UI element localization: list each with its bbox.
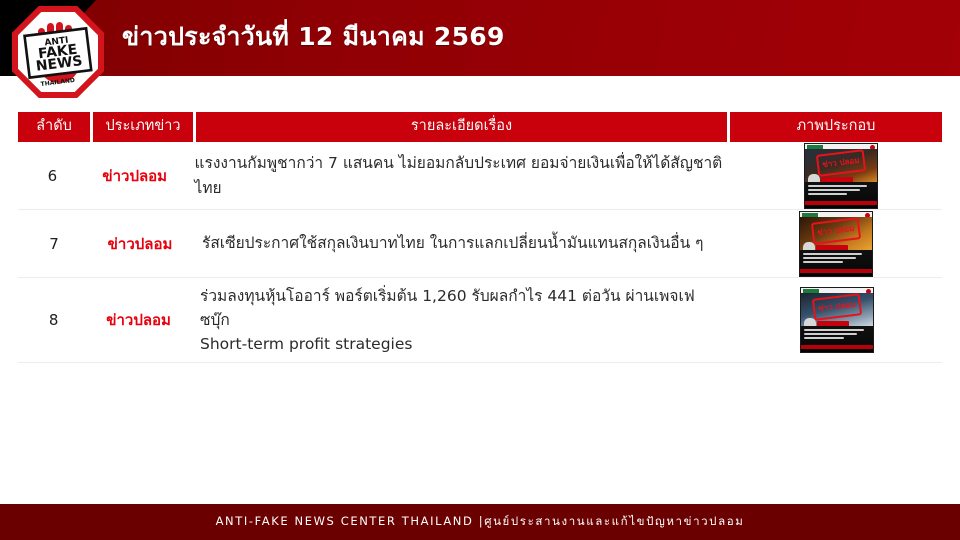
column-header-order: ลำดับ xyxy=(18,112,90,142)
column-header-type: ประเภทข่าว xyxy=(93,112,193,142)
row-order: 6 xyxy=(18,167,87,185)
slide-page: ข่าวประจำวันที่ 12 มีนาคม 2569 ANTI FAKE… xyxy=(0,0,960,540)
anti-fake-news-logo: ANTI FAKE NEWS THAILAND xyxy=(12,6,104,98)
table-body: 6 ข่าวปลอม แรงงานกัมพูชากว่า 7 แสนคน ไม่… xyxy=(18,142,942,363)
page-title: ข่าวประจำวันที่ 12 มีนาคม 2569 xyxy=(122,17,505,57)
row-image-cell[interactable]: ข่าว ปลอม xyxy=(732,287,942,353)
thumb-footer-bar-dark xyxy=(800,273,872,276)
row-order: 8 xyxy=(18,311,89,329)
table-row: 7 ข่าวปลอม รัสเซียประกาศใช้สกุลเงินบาทไท… xyxy=(18,210,942,278)
thumb-text-line xyxy=(803,257,856,259)
column-header-image: ภาพประกอบ xyxy=(730,112,942,142)
table-row: 8 ข่าวปลอม ร่วมลงทุนหุ้นโออาร์ พอร์ตเริ่… xyxy=(18,278,942,363)
row-detail-line-1: ร่วมลงทุนหุ้นโออาร์ พอร์ตเริ่มต้น 1,260 … xyxy=(200,287,695,329)
thumb-text-line xyxy=(803,253,862,255)
row-type-badge: ข่าวปลอม xyxy=(89,308,188,332)
row-detail: ร่วมลงทุนหุ้นโออาร์ พอร์ตเริ่มต้น 1,260 … xyxy=(188,278,732,362)
row-detail: แรงงานกัมพูชากว่า 7 แสนคน ไม่ยอมกลับประเ… xyxy=(183,145,740,205)
row-detail-line-2: Short-term profit strategies xyxy=(200,332,718,356)
news-thumbnail[interactable]: ข่าว ปลอม xyxy=(804,143,878,209)
thumb-text-line xyxy=(804,337,844,339)
thumb-text-line xyxy=(804,329,863,331)
row-type-badge: ข่าวปลอม xyxy=(90,232,190,256)
row-image-cell[interactable]: ข่าว ปลอม xyxy=(739,143,942,209)
thumb-text-line xyxy=(803,261,843,263)
row-detail-line-1: รัสเซียประกาศใช้สกุลเงินบาทไทย ในการแลกเ… xyxy=(202,234,703,252)
news-table: ลำดับ ประเภทข่าว รายละเอียดเรื่อง ภาพประ… xyxy=(18,112,942,363)
table-header-row: ลำดับ ประเภทข่าว รายละเอียดเรื่อง ภาพประ… xyxy=(18,112,942,142)
page-footer: ANTI-FAKE NEWS CENTER THAILAND |ศูนย์ประ… xyxy=(0,504,960,540)
thumb-footer-bar-dark xyxy=(805,205,877,208)
row-type-badge: ข่าวปลอม xyxy=(87,164,183,188)
column-header-detail: รายละเอียดเรื่อง xyxy=(196,112,727,142)
page-header: ข่าวประจำวันที่ 12 มีนาคม 2569 xyxy=(0,0,960,76)
stamp-label-icon: ANTI FAKE NEWS xyxy=(25,28,92,77)
news-thumbnail[interactable]: ข่าว ปลอม xyxy=(800,287,874,353)
table-row: 6 ข่าวปลอม แรงงานกัมพูชากว่า 7 แสนคน ไม่… xyxy=(18,142,942,210)
thumb-text-line xyxy=(808,185,867,187)
thumb-text-line xyxy=(804,333,857,335)
news-thumbnail[interactable]: ข่าว ปลอม xyxy=(799,211,873,277)
row-order: 7 xyxy=(18,235,90,253)
thumb-footer-bar-dark xyxy=(801,349,873,352)
footer-text: ANTI-FAKE NEWS CENTER THAILAND |ศูนย์ประ… xyxy=(216,513,745,531)
row-detail: รัสเซียประกาศใช้สกุลเงินบาทไทย ในการแลกเ… xyxy=(190,225,730,261)
row-image-cell[interactable]: ข่าว ปลอม xyxy=(730,211,942,277)
thumb-text-line xyxy=(808,193,848,195)
row-detail-line-1: แรงงานกัมพูชากว่า 7 แสนคน ไม่ยอมกลับประเ… xyxy=(195,154,723,196)
thumb-text-line xyxy=(808,189,861,191)
